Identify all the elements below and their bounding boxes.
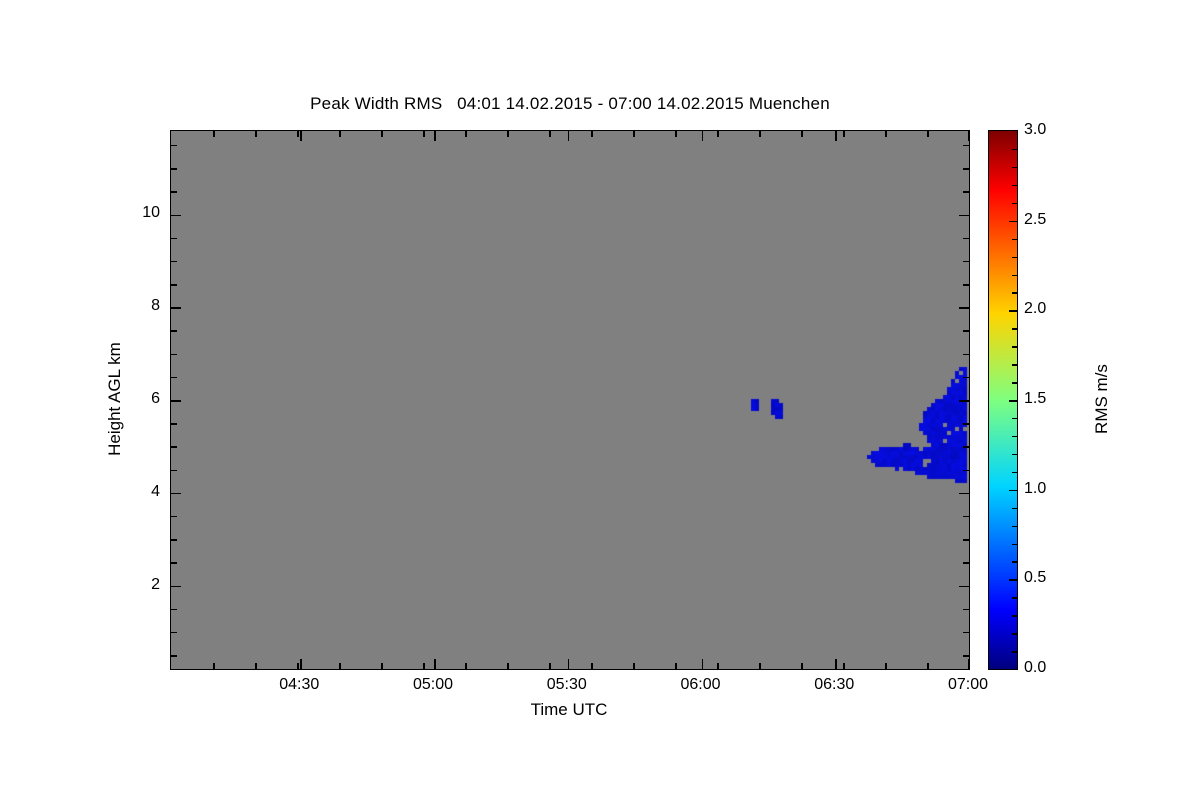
colorbar-tick-label: 0.0 [1024,659,1046,677]
y-tick-minor [171,423,177,425]
x-tick-major [968,659,970,669]
colorbar-tick-minor [1012,526,1017,528]
colorbar-tick-minor [1012,418,1017,420]
x-tick-major-top [300,131,302,141]
x-tick-minor-top [633,131,635,137]
colorbar-tick-major [1009,400,1017,402]
colorbar-tick-minor [1012,292,1017,294]
y-tick-minor [171,609,177,611]
x-tick-minor [885,663,887,669]
y-tick-label: 8 [124,297,160,315]
x-axis-label: Time UTC [170,700,968,720]
y-tick-minor-right [963,423,969,425]
x-tick-minor-top [255,131,257,137]
y-tick-minor-right [963,191,969,193]
y-tick-minor [171,261,177,263]
x-tick-minor [591,663,593,669]
y-tick-minor-right [963,145,969,147]
x-tick-label: 05:30 [547,676,587,694]
y-tick-label: 2 [124,576,160,594]
y-tick-minor [171,446,177,448]
x-tick-major-top [702,131,704,141]
y-tick-minor-right [963,446,969,448]
y-tick-major [171,586,181,588]
colorbar-tick-major [1009,490,1017,492]
colorbar-tick-minor [1012,149,1017,151]
x-tick-major [300,659,302,669]
x-tick-minor-top [717,131,719,137]
colorbar-tick-minor [1012,185,1017,187]
x-tick-minor [759,663,761,669]
y-tick-minor [171,284,177,286]
x-tick-minor [339,663,341,669]
colorbar-tick-minor [1012,561,1017,563]
colorbar-tick-minor [1012,651,1017,653]
x-tick-minor-top [801,131,803,137]
figure-canvas: Peak Width RMS 04:01 14.02.2015 - 07:00 … [0,0,1200,800]
x-tick-minor-top [339,131,341,137]
x-tick-minor-top [675,131,677,137]
x-tick-label: 06:30 [814,676,854,694]
x-tick-minor-top [507,131,509,137]
colorbar-tick-minor [1012,472,1017,474]
y-tick-minor [171,470,177,472]
colorbar-tick-label: 2.5 [1024,211,1046,229]
y-tick-major [171,307,181,309]
y-tick-minor-right [963,609,969,611]
x-tick-minor-top [423,131,425,137]
y-tick-minor-right [963,168,969,170]
x-tick-major [434,659,436,669]
x-tick-minor-top [297,131,299,137]
colorbar-tick-minor [1012,364,1017,366]
x-tick-label: 06:00 [680,676,720,694]
x-tick-major-top [568,131,570,141]
colorbar-tick-minor [1012,454,1017,456]
colorbar-tick-minor [1012,239,1017,241]
y-tick-major-right [959,400,969,402]
x-tick-major-top [968,131,970,141]
x-tick-minor-top [885,131,887,137]
y-tick-minor [171,516,177,518]
colorbar-tick-minor [1012,275,1017,277]
y-tick-minor-right [963,238,969,240]
colorbar-tick-minor [1012,328,1017,330]
y-tick-major [171,493,181,495]
colorbar-tick-label: 1.0 [1024,480,1046,498]
colorbar-tick-minor [1012,544,1017,546]
y-tick-minor-right [963,284,969,286]
x-tick-minor-top [465,131,467,137]
y-tick-minor-right [963,516,969,518]
colorbar-tick-minor [1012,167,1017,169]
y-tick-minor-right [963,539,969,541]
x-tick-major [568,659,570,669]
y-tick-minor-right [963,632,969,634]
colorbar-tick-minor [1012,508,1017,510]
heatmap-data-layer [171,131,969,669]
x-tick-minor-top [213,131,215,137]
colorbar-tick-minor [1012,633,1017,635]
x-tick-minor [843,663,845,669]
x-tick-minor-top [759,131,761,137]
x-tick-minor [927,663,929,669]
x-tick-minor [717,663,719,669]
y-tick-minor-right [963,261,969,263]
colorbar-tick-label: 3.0 [1024,121,1046,139]
x-tick-minor [213,663,215,669]
colorbar-tick-major [1009,221,1017,223]
x-tick-minor [255,663,257,669]
y-tick-major-right [959,586,969,588]
y-tick-minor [171,354,177,356]
y-tick-minor [171,145,177,147]
x-tick-minor [549,663,551,669]
x-tick-major [702,659,704,669]
x-tick-major [835,659,837,669]
y-tick-minor [171,377,177,379]
colorbar-tick-minor [1012,615,1017,617]
x-tick-label: 07:00 [948,676,988,694]
y-tick-minor-right [963,354,969,356]
y-tick-minor-right [963,377,969,379]
colorbar-tick-minor [1012,436,1017,438]
y-tick-minor [171,168,177,170]
y-tick-major-right [959,493,969,495]
y-tick-minor-right [963,470,969,472]
x-tick-minor [507,663,509,669]
y-tick-minor-right [963,330,969,332]
y-tick-minor [171,632,177,634]
y-tick-minor [171,655,177,657]
x-tick-minor-top [843,131,845,137]
x-tick-label: 05:00 [413,676,453,694]
x-tick-minor-top [381,131,383,137]
y-tick-label: 4 [124,483,160,501]
colorbar-tick-major [1009,579,1017,581]
y-axis-label: Height AGL km [105,279,125,519]
y-tick-label: 10 [124,204,160,222]
colorbar-tick-label: 0.5 [1024,569,1046,587]
x-tick-minor-top [591,131,593,137]
colorbar-tick-minor [1012,597,1017,599]
y-tick-minor [171,238,177,240]
x-tick-minor-top [927,131,929,137]
y-tick-minor [171,539,177,541]
y-tick-major [171,215,181,217]
page-title: Peak Width RMS 04:01 14.02.2015 - 07:00 … [0,94,1140,114]
colorbar-label: RMS m/s [1092,299,1112,499]
colorbar-tick-label: 2.0 [1024,300,1046,318]
plot-axes[interactable] [170,130,970,670]
y-tick-minor [171,330,177,332]
x-tick-minor [465,663,467,669]
x-tick-minor [801,663,803,669]
x-tick-minor [633,663,635,669]
y-tick-major-right [959,215,969,217]
y-tick-minor [171,191,177,193]
colorbar-tick-minor [1012,257,1017,259]
colorbar-tick-minor [1012,203,1017,205]
colorbar-tick-minor [1012,346,1017,348]
x-tick-minor-top [549,131,551,137]
y-tick-major-right [959,307,969,309]
x-tick-label: 04:30 [279,676,319,694]
x-tick-minor [675,663,677,669]
y-tick-major [171,400,181,402]
colorbar-tick-minor [1012,382,1017,384]
x-tick-major-top [835,131,837,141]
x-tick-minor [423,663,425,669]
colorbar-tick-major [1009,310,1017,312]
x-tick-major-top [434,131,436,141]
y-tick-minor-right [963,562,969,564]
x-tick-minor [297,663,299,669]
x-tick-minor [381,663,383,669]
colorbar-tick-label: 1.5 [1024,390,1046,408]
y-tick-minor-right [963,655,969,657]
colorbar[interactable] [988,130,1018,670]
y-tick-label: 6 [124,390,160,408]
y-tick-minor [171,562,177,564]
